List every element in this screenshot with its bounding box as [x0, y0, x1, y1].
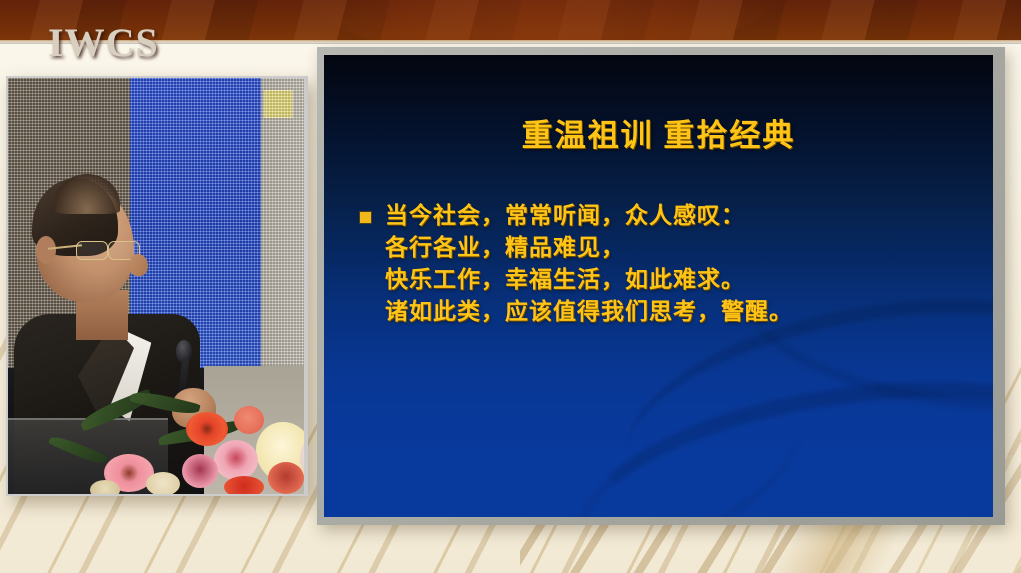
slide-content: 重温祖训 重拾经典 当今社会，常常听闻，众人感叹： 各行各业，精品难见， 快乐工…	[324, 55, 993, 517]
slide-body-line: 当今社会，常常听闻，众人感叹：	[385, 200, 793, 232]
slide-body-line: 诸如此类，应该值得我们思考，警醒。	[385, 296, 793, 328]
slide-body-line: 快乐工作，幸福生活，如此难求。	[385, 264, 793, 296]
slide-body-line: 各行各业，精品难见，	[385, 232, 793, 264]
slide-title: 重温祖训 重拾经典	[324, 110, 993, 155]
slide-swirl-decor-2	[563, 354, 993, 517]
slide-swirl-decor-4	[425, 314, 823, 517]
speaker-photo	[8, 78, 304, 494]
presentation-screen: IWCS	[0, 0, 1021, 573]
flower-bouquet	[38, 396, 304, 494]
banner-arc-highlight	[280, 0, 800, 41]
iwcs-logo: IWCS	[48, 23, 159, 63]
speaker-ear	[36, 236, 56, 264]
slide-body-text: 当今社会，常常听闻，众人感叹： 各行各业，精品难见， 快乐工作，幸福生活，如此难…	[385, 200, 793, 328]
slide-body: 当今社会，常常听闻，众人感叹： 各行各业，精品难见， 快乐工作，幸福生活，如此难…	[360, 200, 970, 328]
square-bullet-icon	[360, 212, 371, 223]
speaker-nose	[130, 254, 148, 276]
